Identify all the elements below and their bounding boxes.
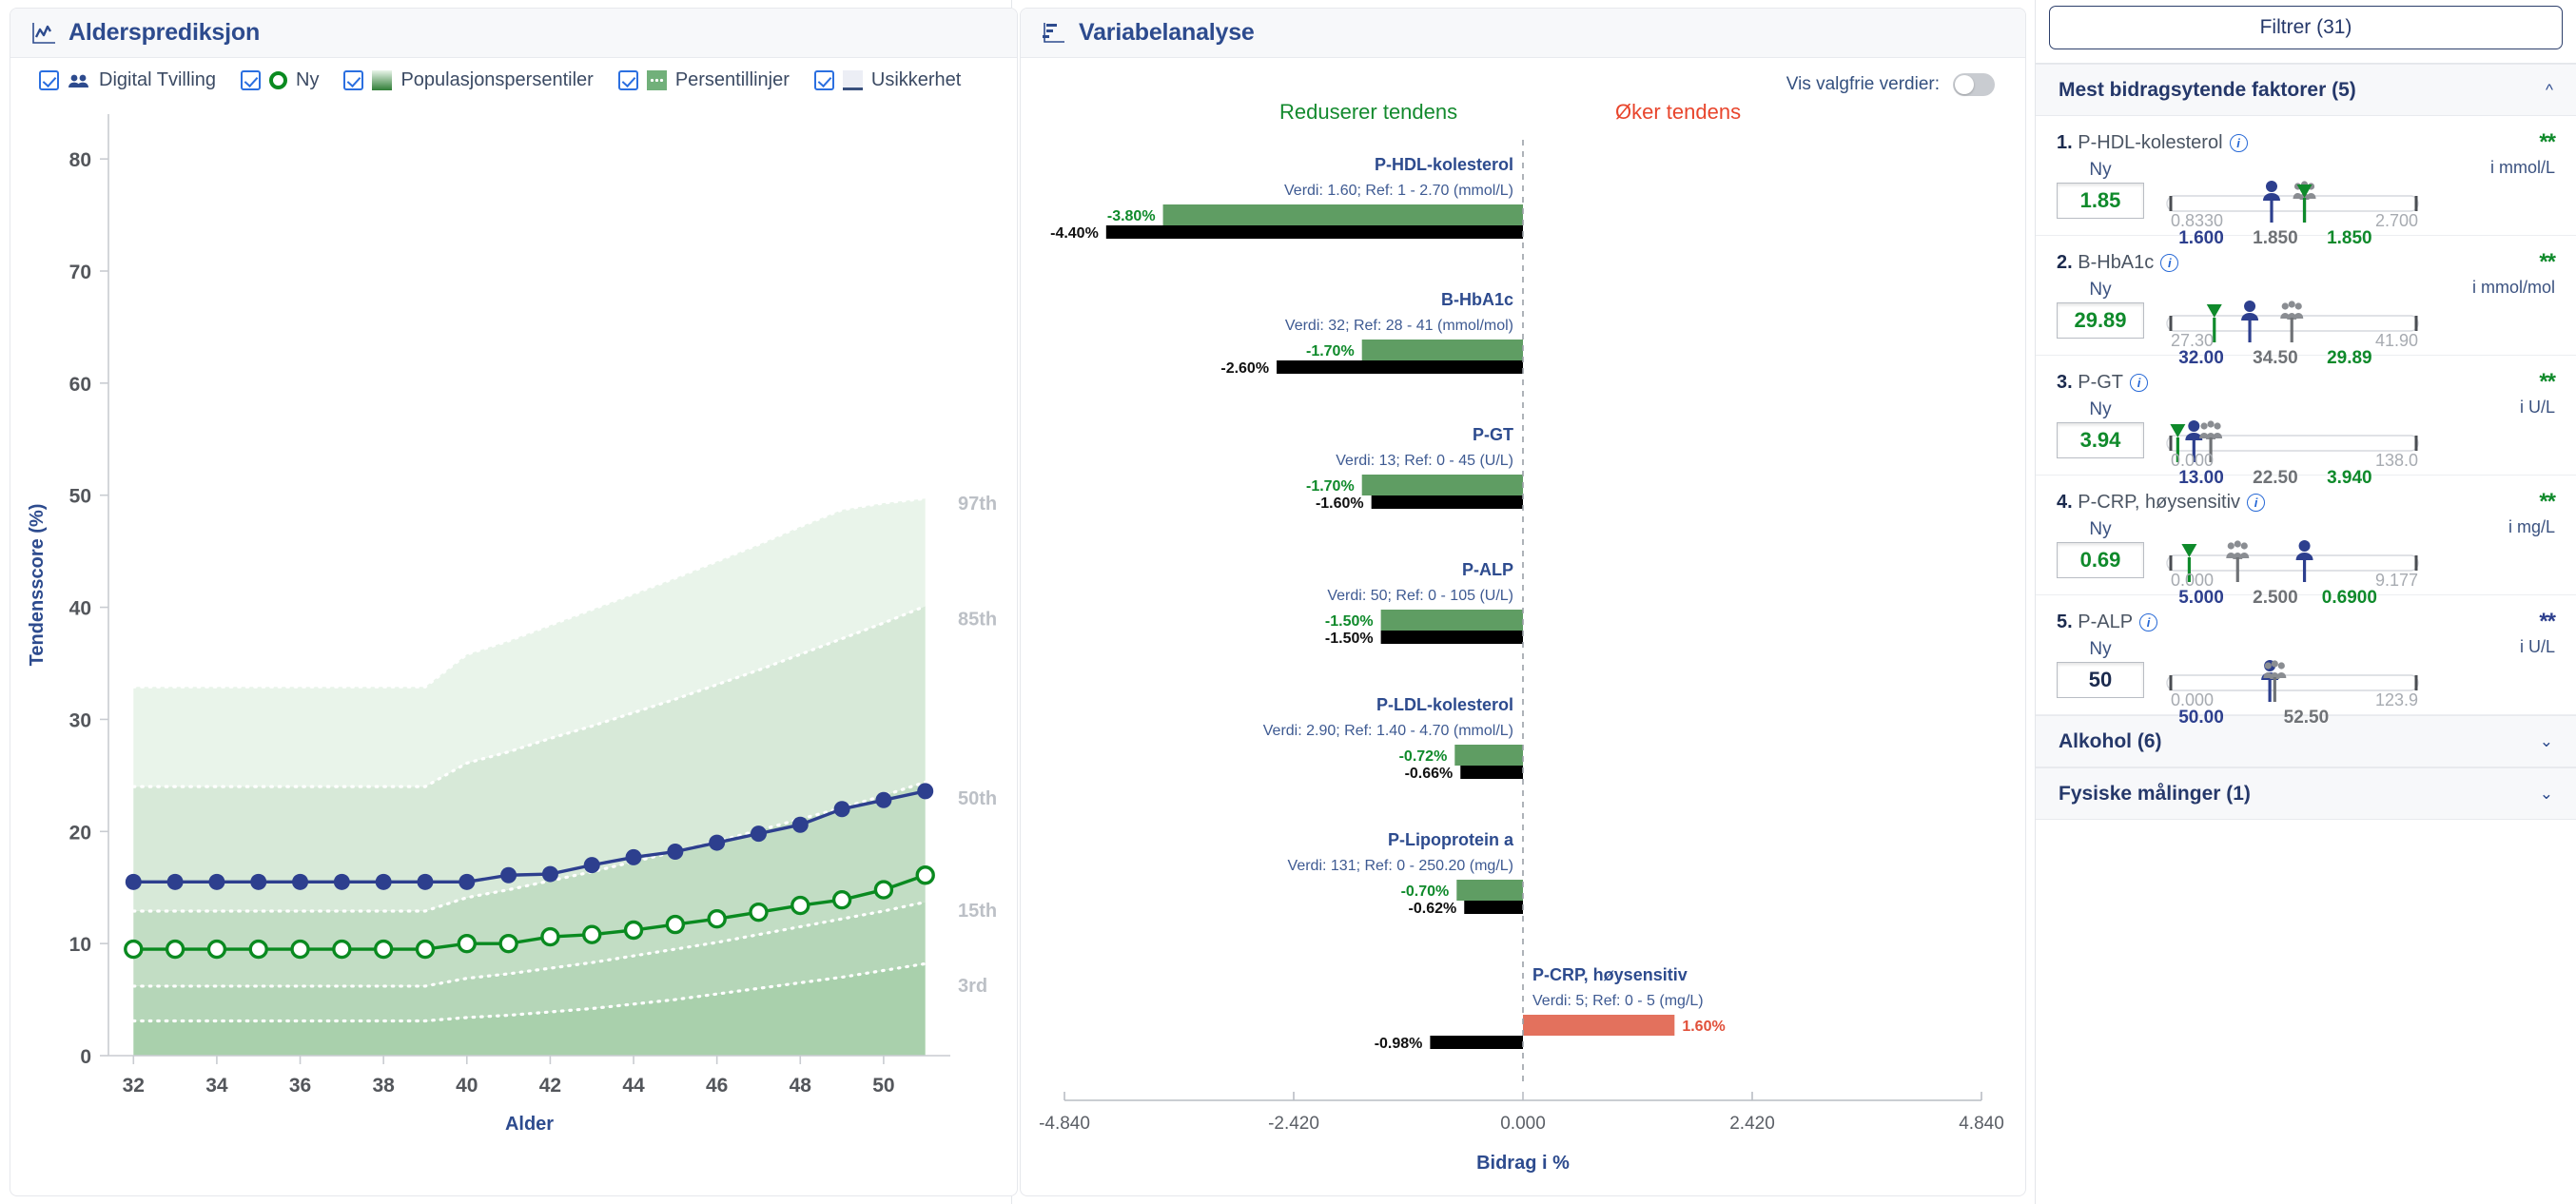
contribution-bar-colored[interactable] — [1456, 880, 1523, 901]
factor-title: 2. B-HbA1ci — [2057, 252, 2178, 274]
ny-label: Ny — [2057, 639, 2144, 660]
contribution-x-tick-label: -4.840 — [1039, 1114, 1090, 1134]
checkbox-percentile-lines[interactable] — [618, 70, 638, 90]
factor-rank: 5. — [2057, 612, 2073, 632]
accordion-header[interactable]: Fysiske målinger (1)⌄ — [2036, 767, 2576, 820]
significance-stars: ** — [2539, 369, 2555, 396]
unit-label: i mmol/mol — [2472, 278, 2555, 298]
x-tick-label: 48 — [790, 1075, 812, 1097]
app-root: Aldersprediksjon Digital Tvilling — [0, 0, 2576, 1204]
unit-label: i mg/L — [2508, 517, 2555, 537]
variable-analysis-panel: Variabelanalyse Vis valgfrie verdier: Re… — [1012, 0, 2035, 1204]
y-tick-label: 50 — [69, 486, 91, 508]
variable-analysis-header: Variabelanalyse — [1021, 9, 2025, 58]
percentile-label: 50th — [958, 788, 997, 809]
factor-slider-column: i mg/L0.0009.1775.0002.5000.6900 — [2144, 519, 2555, 607]
info-icon[interactable]: i — [2139, 613, 2157, 631]
slider-track[interactable] — [2167, 675, 2418, 690]
green-gradient-icon — [372, 70, 392, 90]
contribution-bar-chart: P-HDL-kolesterolVerdi: 1.60; Ref: 1 - 2.… — [1021, 132, 2026, 1178]
section-title-top-factors: Mest bidragsytende faktorer (5) — [2059, 79, 2356, 102]
age-prediction-header: Aldersprediksjon — [10, 9, 1017, 58]
contribution-colored-label: -1.70% — [1306, 478, 1355, 495]
direction-increase-label: Øker tendens — [1615, 100, 1741, 125]
series-point[interactable] — [584, 926, 600, 942]
x-tick-label: 38 — [372, 1075, 395, 1097]
y-tick-label: 60 — [69, 374, 91, 396]
contribution-bar-black[interactable] — [1372, 495, 1523, 509]
variable-name: P-ALP — [1462, 560, 1513, 579]
person-icon — [2263, 181, 2280, 201]
variable-name: P-LDL-kolesterol — [1376, 695, 1513, 714]
age-prediction-panel: Aldersprediksjon Digital Tvilling — [0, 0, 1012, 1204]
significance-stars: ** — [2539, 249, 2555, 276]
checkbox-ny[interactable] — [241, 70, 261, 90]
factor-slider-column: i mmol/L0.83302.7001.6001.8501.850 — [2144, 160, 2555, 247]
slider-min-label: 0.8330 — [2171, 211, 2223, 230]
series-point[interactable] — [167, 874, 184, 890]
percentile-label: 85th — [958, 609, 997, 630]
checkbox-digital-twin[interactable] — [39, 70, 59, 90]
population-icon — [2226, 540, 2249, 559]
legend-label-ny: Ny — [296, 69, 319, 91]
y-tick-label: 80 — [69, 149, 91, 171]
contribution-x-tick-label: 2.420 — [1729, 1114, 1775, 1134]
series-point[interactable] — [167, 942, 184, 958]
line-chart-icon — [31, 21, 56, 46]
accordion-label: Fysiske målinger (1) — [2059, 783, 2251, 806]
series-point[interactable] — [459, 874, 475, 890]
series-point[interactable] — [542, 929, 558, 945]
y-tick-label: 0 — [80, 1046, 91, 1068]
accordion-list: Alkohol (6)⌄Fysiske målinger (1)⌄ — [2036, 715, 2576, 820]
series-point[interactable] — [376, 942, 392, 958]
series-point[interactable] — [626, 849, 642, 865]
series-point[interactable] — [208, 874, 224, 890]
x-tick-label: 46 — [706, 1075, 728, 1097]
optional-values-label: Vis valgfrie verdier: — [1786, 74, 1940, 95]
series-point[interactable] — [542, 866, 558, 883]
percentile-label: 15th — [958, 901, 997, 922]
contribution-colored-label: -1.50% — [1325, 613, 1374, 630]
contribution-bar-colored[interactable] — [1523, 1015, 1674, 1036]
slider-max-label: 138.0 — [2375, 451, 2418, 470]
factor-slider[interactable]: 0.83302.7001.6001.8501.850 — [2157, 160, 2431, 247]
variable-name: P-GT — [1473, 425, 1513, 444]
x-tick-label: 50 — [872, 1075, 894, 1097]
variable-row[interactable]: P-GTVerdi: 13; Ref: 0 - 45 (U/L)-1.70%-1… — [1306, 425, 1523, 512]
factor-title: 4. P-CRP, høysensitivi — [2057, 492, 2265, 514]
contribution-x-tick-label: 0.000 — [1500, 1114, 1546, 1134]
factor-card[interactable]: 3. P-GTi**Ny3.94i U/L0.000138.013.0022.5… — [2036, 356, 2576, 476]
unit-label: i U/L — [2520, 398, 2555, 418]
green-ring-icon — [269, 71, 287, 89]
legend-label-digital-twin: Digital Tvilling — [99, 69, 216, 91]
series-point[interactable] — [334, 874, 350, 890]
significance-stars: ** — [2539, 489, 2555, 515]
variable-reference: Verdi: 13; Ref: 0 - 45 (U/L) — [1336, 453, 1513, 469]
contribution-colored-label: -1.70% — [1306, 343, 1355, 359]
info-icon[interactable]: i — [2130, 374, 2148, 392]
factor-title: 3. P-GTi — [2057, 372, 2148, 394]
variable-reference: Verdi: 50; Ref: 0 - 105 (U/L) — [1327, 588, 1513, 604]
person-icon — [2296, 540, 2313, 560]
slider-max-label: 2.700 — [2375, 211, 2418, 230]
contribution-colored-label: 1.60% — [1682, 1019, 1725, 1035]
y-tick-label: 70 — [69, 262, 91, 283]
legend-label-population-percentiles: Populasjonspersentiler — [400, 69, 593, 91]
marker-value-label: 50.00 — [2178, 708, 2224, 727]
series-point[interactable] — [875, 882, 891, 898]
variable-reference: Verdi: 2.90; Ref: 1.40 - 4.70 (mmol/L) — [1263, 723, 1513, 739]
x-tick-label: 34 — [205, 1075, 228, 1097]
series-point[interactable] — [292, 942, 308, 958]
x-tick-label: 42 — [539, 1075, 561, 1097]
chevron-up-icon[interactable]: ^ — [2546, 81, 2553, 100]
slider-min-label: 0.000 — [2171, 571, 2214, 590]
ny-value-column: Ny29.89 — [2057, 280, 2144, 339]
slider-max-label: 123.9 — [2375, 690, 2418, 709]
population-icon — [2280, 301, 2303, 320]
y-tick-label: 10 — [69, 934, 91, 956]
info-icon[interactable]: i — [2160, 254, 2178, 272]
contribution-bar-black[interactable] — [1106, 225, 1523, 239]
section-header-top-factors[interactable]: Mest bidragsytende faktorer (5) ^ — [2036, 64, 2576, 116]
variable-name: P-Lipoprotein a — [1388, 830, 1514, 849]
factors-list: 1. P-HDL-kolesteroli**Ny1.85i mmol/L0.83… — [2036, 116, 2576, 715]
accordion-label: Alkohol (6) — [2059, 730, 2162, 753]
legend-label-uncertainty: Usikkerhet — [871, 69, 961, 91]
ny-label: Ny — [2057, 519, 2144, 540]
chevron-down-icon[interactable]: ⌄ — [2540, 732, 2553, 751]
variable-reference: Verdi: 131; Ref: 0 - 250.20 (mg/L) — [1288, 858, 1513, 874]
variable-name: P-HDL-kolesterol — [1375, 155, 1513, 174]
unit-label: i U/L — [2520, 637, 2555, 657]
contribution-black-label: -4.40% — [1050, 225, 1099, 242]
series-point[interactable] — [417, 942, 433, 958]
series-point[interactable] — [709, 911, 725, 927]
legend-label-percentile-lines: Persentillinjer — [675, 69, 790, 91]
series-point[interactable] — [667, 844, 683, 860]
contribution-black-label: -1.50% — [1325, 631, 1374, 647]
series-point[interactable] — [126, 874, 142, 890]
ny-value-input[interactable]: 29.89 — [2057, 302, 2144, 339]
slider-min-label: 0.000 — [2171, 690, 2214, 709]
factor-title: 1. P-HDL-kolesteroli — [2057, 132, 2248, 154]
optional-values-toggle-row: Vis valgfrie verdier: — [1021, 58, 2025, 96]
factor-card[interactable]: 4. P-CRP, høysensitivi**Ny0.69i mg/L0.00… — [2036, 476, 2576, 595]
variable-reference: Verdi: 32; Ref: 28 - 41 (mmol/mol) — [1285, 318, 1513, 334]
contribution-bar-colored[interactable] — [1362, 475, 1523, 495]
factor-rank: 3. — [2057, 372, 2073, 393]
factor-slider[interactable]: 0.000123.950.0052.50 — [2157, 639, 2431, 727]
series-point[interactable] — [834, 801, 850, 817]
series-point[interactable] — [709, 835, 725, 851]
y-axis-title: Tendensscore (%) — [27, 504, 48, 667]
series-point[interactable] — [417, 874, 433, 890]
people-icon — [68, 72, 90, 89]
slider-max-label: 41.90 — [2375, 331, 2418, 350]
variable-row[interactable]: P-LDL-kolesterolVerdi: 2.90; Ref: 1.40 -… — [1263, 695, 1523, 782]
contribution-bar-colored[interactable] — [1362, 340, 1523, 360]
variable-name: P-CRP, høysensitiv — [1532, 965, 1688, 984]
variable-reference: Verdi: 1.60; Ref: 1 - 2.70 (mmol/L) — [1284, 183, 1513, 199]
contribution-bar-black[interactable] — [1381, 631, 1523, 644]
ny-label: Ny — [2057, 280, 2144, 301]
series-point[interactable] — [751, 904, 767, 921]
variable-row[interactable]: P-HDL-kolesterolVerdi: 1.60; Ref: 1 - 2.… — [1050, 155, 1523, 242]
contribution-axis-title: Bidrag i % — [1476, 1153, 1570, 1174]
series-point[interactable] — [292, 874, 308, 890]
info-icon[interactable]: i — [2247, 494, 2265, 512]
age-prediction-title: Aldersprediksjon — [68, 19, 260, 47]
factor-slider-column: i mmol/mol27.3041.9032.0034.5029.89 — [2144, 280, 2555, 367]
series-point[interactable] — [792, 817, 809, 833]
optional-values-switch[interactable] — [1953, 73, 1995, 96]
ny-value-column: Ny3.94 — [2057, 399, 2144, 458]
contribution-colored-label: -0.70% — [1401, 884, 1450, 900]
ny-value-column: Ny50 — [2057, 639, 2144, 698]
factor-rank: 4. — [2057, 492, 2073, 513]
contribution-bar-colored[interactable] — [1163, 204, 1523, 225]
series-point[interactable] — [500, 867, 517, 884]
series-point[interactable] — [667, 917, 683, 933]
dotted-band-icon — [647, 70, 667, 90]
contribution-x-tick-label: -2.420 — [1268, 1114, 1319, 1134]
factor-slider-column: i U/L0.000138.013.0022.503.940 — [2144, 399, 2555, 487]
ny-value-column: Ny1.85 — [2057, 160, 2144, 219]
contribution-black-label: -0.62% — [1409, 901, 1457, 917]
significance-stars: ** — [2539, 129, 2555, 156]
series-point[interactable] — [459, 936, 475, 952]
series-point[interactable] — [875, 792, 891, 808]
contribution-black-label: -0.98% — [1375, 1036, 1423, 1052]
direction-labels: Reduserer tendens Øker tendens — [1021, 96, 2025, 132]
series-point[interactable] — [126, 942, 142, 958]
series-point[interactable] — [917, 867, 933, 884]
factor-rank: 2. — [2057, 252, 2073, 273]
ny-value-input[interactable]: 50 — [2057, 662, 2144, 698]
series-point[interactable] — [250, 874, 266, 890]
factor-rank: 1. — [2057, 132, 2073, 153]
slider-min-label: 27.30 — [2171, 331, 2214, 350]
legend-item-digital-twin[interactable]: Digital Tvilling — [39, 69, 216, 91]
ny-value-input[interactable]: 0.69 — [2057, 542, 2144, 578]
factor-slider[interactable]: 27.3041.9032.0034.5029.89 — [2157, 280, 2431, 367]
population-icon — [2199, 420, 2222, 439]
series-point[interactable] — [792, 898, 809, 914]
contribution-colored-label: -3.80% — [1107, 208, 1156, 224]
slider-min-label: 0.000 — [2171, 451, 2214, 470]
percentile-label: 3rd — [958, 976, 987, 997]
contribution-bar-black[interactable] — [1430, 1036, 1523, 1049]
y-tick-label: 20 — [69, 822, 91, 844]
variable-analysis-title: Variabelanalyse — [1079, 19, 1255, 47]
slider-track[interactable] — [2167, 555, 2418, 571]
y-tick-label: 30 — [69, 709, 91, 731]
factor-slider[interactable]: 0.0009.1775.0002.5000.6900 — [2157, 519, 2431, 607]
series-point[interactable] — [584, 857, 600, 873]
direction-reduce-label: Reduserer tendens — [1279, 100, 1457, 125]
x-tick-label: 36 — [289, 1075, 311, 1097]
ny-label: Ny — [2057, 160, 2144, 181]
ny-value-input[interactable]: 1.85 — [2057, 183, 2144, 219]
slider-max-label: 9.177 — [2375, 571, 2418, 590]
variable-row[interactable]: B-HbA1cVerdi: 32; Ref: 28 - 41 (mmol/mol… — [1220, 290, 1523, 377]
contribution-bar-black[interactable] — [1460, 766, 1523, 779]
chart-legend: Digital Tvilling Ny Populasjonspersentil… — [10, 58, 1017, 97]
legend-item-percentile-lines[interactable]: Persentillinjer — [618, 69, 790, 91]
checkbox-population-percentiles[interactable] — [343, 70, 363, 90]
variable-reference: Verdi: 5; Ref: 0 - 5 (mg/L) — [1532, 993, 1704, 1009]
ny-value-input[interactable]: 3.94 — [2057, 422, 2144, 458]
x-tick-label: 32 — [123, 1075, 145, 1097]
series-point[interactable] — [334, 942, 350, 958]
unit-label: i mmol/L — [2490, 158, 2555, 178]
series-point[interactable] — [376, 874, 392, 890]
marker-value-label: 52.50 — [2284, 708, 2330, 727]
filter-box: Filtrer (31) — [2049, 6, 2563, 49]
legend-item-uncertainty[interactable]: Usikkerhet — [814, 69, 961, 91]
age-prediction-chart: 010203040506070803234363840424446485097t… — [10, 97, 1018, 1196]
contribution-colored-label: -0.72% — [1399, 748, 1448, 765]
variable-row[interactable]: P-Lipoprotein aVerdi: 131; Ref: 0 - 250.… — [1288, 830, 1523, 917]
factor-slider[interactable]: 0.000138.013.0022.503.940 — [2157, 399, 2431, 487]
contribution-bar-colored[interactable] — [1381, 610, 1523, 631]
x-tick-label: 40 — [456, 1075, 478, 1097]
slider-track[interactable] — [2167, 196, 2418, 211]
contribution-x-tick-label: 4.840 — [1959, 1114, 2004, 1134]
bar-analysis-icon — [1042, 21, 1066, 46]
legend-item-population-percentiles[interactable]: Populasjonspersentiler — [343, 69, 593, 91]
contribution-bar-black[interactable] — [1277, 360, 1523, 374]
series-point[interactable] — [751, 825, 767, 842]
variable-row[interactable]: P-ALPVerdi: 50; Ref: 0 - 105 (U/L)-1.50%… — [1325, 560, 1523, 647]
filter-button[interactable]: Filtrer (31) — [2049, 6, 2563, 49]
factor-card[interactable]: 2. B-HbA1ci**Ny29.89i mmol/mol27.3041.90… — [2036, 236, 2576, 356]
info-icon[interactable]: i — [2230, 134, 2248, 152]
chevron-down-icon[interactable]: ⌄ — [2540, 785, 2553, 804]
person-icon — [2241, 301, 2258, 320]
x-tick-label: 44 — [622, 1075, 645, 1097]
x-axis-title: Alder — [505, 1114, 554, 1135]
y-tick-label: 40 — [69, 598, 91, 620]
series-point[interactable] — [834, 892, 850, 908]
ny-label: Ny — [2057, 399, 2144, 420]
factor-card[interactable]: 5. P-ALPi**Ny50i U/L0.000123.950.0052.50 — [2036, 595, 2576, 715]
series-point[interactable] — [250, 942, 266, 958]
contribution-black-label: -1.60% — [1316, 495, 1364, 512]
legend-item-ny[interactable]: Ny — [241, 69, 319, 91]
series-point[interactable] — [500, 936, 517, 952]
series-point[interactable] — [208, 942, 224, 958]
series-point[interactable] — [917, 783, 933, 799]
contribution-black-label: -0.66% — [1405, 766, 1454, 782]
significance-stars: ** — [2539, 609, 2555, 635]
checkbox-uncertainty[interactable] — [814, 70, 834, 90]
contribution-black-label: -2.60% — [1220, 360, 1269, 377]
ny-value-column: Ny0.69 — [2057, 519, 2144, 578]
factors-sidebar: Filtrer (31) Mest bidragsytende faktorer… — [2035, 0, 2576, 1204]
contribution-bar-black[interactable] — [1464, 901, 1523, 914]
factor-slider-column: i U/L0.000123.950.0052.50 — [2144, 639, 2555, 727]
variable-row[interactable]: P-CRP, høysensitivVerdi: 5; Ref: 0 - 5 (… — [1375, 965, 1726, 1052]
contribution-bar-colored[interactable] — [1454, 745, 1523, 766]
factor-title: 5. P-ALPi — [2057, 612, 2157, 633]
series-point[interactable] — [626, 922, 642, 939]
percentile-label: 97th — [958, 494, 997, 515]
variable-name: B-HbA1c — [1441, 290, 1513, 309]
factor-card[interactable]: 1. P-HDL-kolesteroli**Ny1.85i mmol/L0.83… — [2036, 116, 2576, 236]
uncertainty-band-icon — [843, 70, 863, 90]
